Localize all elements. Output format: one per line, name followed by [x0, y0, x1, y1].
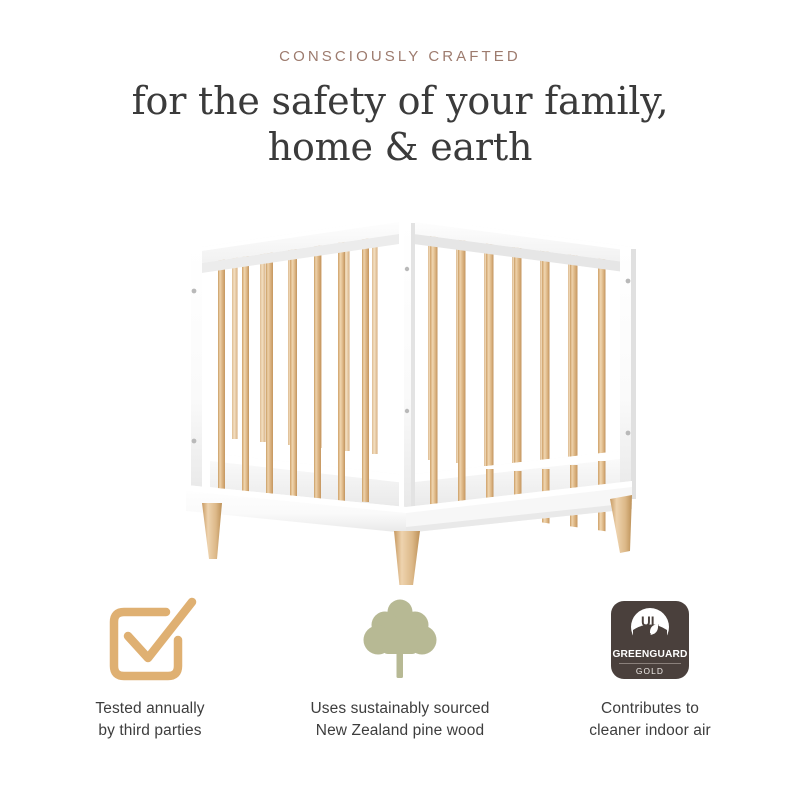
feature-caption-line-2: by third parties	[95, 720, 204, 742]
ul-mark-icon: UL	[630, 607, 670, 647]
greenguard-divider	[619, 663, 681, 664]
crib-leg-right	[610, 495, 632, 553]
feature-tested-annually: Tested annually by third parties	[25, 588, 275, 742]
headline-line-2: home & earth	[0, 124, 800, 170]
marketing-product-panel: CONSCIOUSLY CRAFTED for the safety of yo…	[0, 0, 800, 800]
feature-list: Tested annually by third parties	[0, 588, 800, 768]
feature-sustainable-wood: Uses sustainably sourced New Zealand pin…	[275, 588, 525, 742]
crib-leg-front-center	[394, 531, 420, 585]
feature-caption-line-1: Uses sustainably sourced	[310, 698, 489, 720]
eyebrow-text: CONSCIOUSLY CRAFTED	[0, 48, 800, 65]
greenguard-badge: UL GREENGUARD GOLD	[611, 601, 689, 679]
feature-caption-line-2: cleaner indoor air	[589, 720, 711, 742]
feature-caption: Tested annually by third parties	[95, 698, 204, 742]
product-image-crib	[0, 185, 800, 585]
feature-caption-line-2: New Zealand pine wood	[310, 720, 489, 742]
feature-greenguard-gold: UL GREENGUARD GOLD Contributes to cleane…	[525, 588, 775, 742]
tree-icon	[352, 588, 448, 692]
feature-caption: Uses sustainably sourced New Zealand pin…	[310, 698, 489, 742]
headline-line-1: for the safety of your family,	[0, 78, 800, 124]
crib-leg-back-left	[202, 503, 222, 559]
page-title: for the safety of your family, home & ea…	[0, 78, 800, 170]
feature-caption-line-1: Tested annually	[95, 698, 204, 720]
feature-caption-line-1: Contributes to	[589, 698, 711, 720]
greenguard-tier: GOLD	[636, 666, 664, 676]
feature-caption: Contributes to cleaner indoor air	[589, 698, 711, 742]
greenguard-gold-badge-icon: UL GREENGUARD GOLD	[611, 588, 689, 692]
greenguard-name: GREENGUARD	[612, 649, 687, 661]
checkbox-check-icon	[102, 588, 198, 692]
